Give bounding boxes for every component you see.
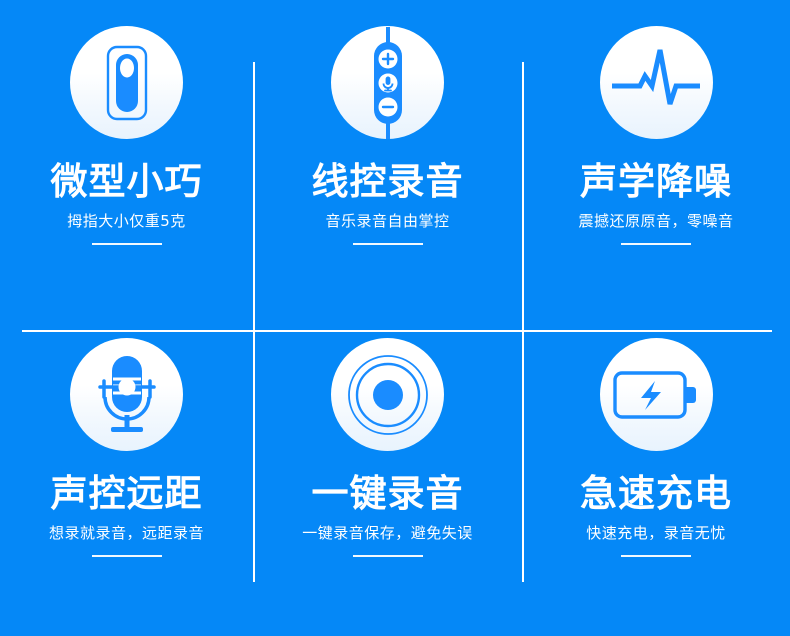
feature-subtitle-3: 震撼还原原音，零噪音 [578,214,733,229]
feature-underline-6 [621,555,691,557]
feature-icon-disc-4 [70,338,183,451]
feature-underline-5 [353,555,423,557]
vintage-microphone-icon [92,353,162,437]
feature-grid: 微型小巧 拇指大小仅重5克 [0,0,790,636]
feature-subtitle-5: 一键录音保存，避免失误 [302,526,473,541]
feature-subtitle-2: 音乐录音自由掌控 [325,214,449,229]
voice-recorder-device-icon [99,45,155,121]
feature-title-4: 声控远距 [51,475,203,512]
feature-title-2: 线控录音 [312,163,464,200]
feature-underline-1 [92,243,162,245]
feature-subtitle-1: 拇指大小仅重5克 [67,214,186,229]
feature-icon-disc-5 [331,338,444,451]
audio-waveform-icon [610,46,702,120]
feature-icon-disc-2 [331,26,444,139]
feature-card-3[interactable]: 声学降噪 震撼还原原音，零噪音 [522,0,790,318]
feature-title-3: 声学降噪 [580,163,732,200]
feature-underline-4 [92,555,162,557]
record-button-icon [346,353,430,437]
feature-icon-disc-3 [600,26,713,139]
inline-remote-control-icon [368,27,408,139]
feature-underline-2 [353,243,423,245]
feature-subtitle-6: 快速充电，录音无忧 [586,526,726,541]
feature-card-6[interactable]: 急速充电 快速充电，录音无忧 [522,318,790,636]
feature-title-6: 急速充电 [580,475,732,512]
feature-title-5: 一键录音 [312,475,464,512]
feature-card-2[interactable]: 线控录音 音乐录音自由掌控 [253,0,522,318]
feature-subtitle-4: 想录就录音，远距录音 [49,526,204,541]
feature-icon-disc-6 [600,338,713,451]
feature-underline-3 [621,243,691,245]
feature-card-1[interactable]: 微型小巧 拇指大小仅重5克 [0,0,253,318]
feature-card-5[interactable]: 一键录音 一键录音保存，避免失误 [253,318,522,636]
feature-icon-disc-1 [70,26,183,139]
battery-charging-icon [613,367,699,423]
feature-title-1: 微型小巧 [51,163,203,200]
feature-grid-page: { "page": { "background_color": "#0588f7… [0,0,790,636]
feature-card-4[interactable]: 声控远距 想录就录音，远距录音 [0,318,253,636]
